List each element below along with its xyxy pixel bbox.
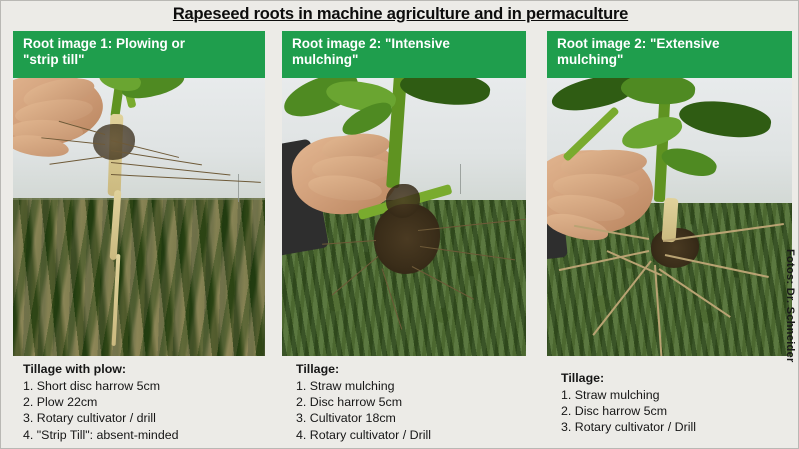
panel-1-header: Root image 1: Plowing or "strip till" — [13, 31, 265, 78]
panel-root-image-2-intensive: Root image 2: "Intensive mulching" — [282, 31, 526, 443]
panel-2-caption-item-3: 3. Cultivator 18cm — [296, 410, 526, 426]
panel-1-caption-title: Tillage with plow: — [23, 361, 265, 377]
horizon-line — [13, 198, 265, 200]
photo-credit: Fotos: Dr. Schneider — [784, 249, 796, 363]
panel-2-caption-title: Tillage: — [296, 361, 526, 377]
panel-3-header: Root image 2: "Extensive mulching" — [547, 31, 792, 78]
panel-root-image-2-extensive: Root image 2: "Extensive mulching" — [547, 31, 792, 436]
panel-3-photo — [547, 78, 792, 356]
panel-2-caption-item-4: 4. Rotary cultivator / Drill — [296, 427, 526, 443]
panel-3-caption-item-1: 1. Straw mulching — [561, 387, 792, 403]
panel-3-header-line2: mulching" — [557, 52, 785, 68]
panel-2-caption-item-2: 2. Disc harrow 5cm — [296, 394, 526, 410]
field — [13, 198, 265, 356]
panel-1-caption: Tillage with plow: 1. Short disc harrow … — [13, 356, 265, 443]
utility-pole — [238, 174, 239, 202]
panel-3-caption-item-2: 2. Disc harrow 5cm — [561, 403, 792, 419]
page-title: Rapeseed roots in machine agriculture an… — [173, 5, 628, 24]
panel-1-photo — [13, 78, 265, 356]
panel-3-caption-item-3: 3. Rotary cultivator / Drill — [561, 419, 792, 435]
panel-1-header-line2: "strip till" — [23, 52, 258, 68]
panel-2-caption: Tillage: 1. Straw mulching 2. Disc harro… — [282, 356, 526, 443]
panel-3-header-line1: Root image 2: "Extensive — [557, 36, 785, 52]
panel-2-photo — [282, 78, 526, 356]
panel-3-caption: Tillage: 1. Straw mulching 2. Disc harro… — [547, 356, 792, 436]
panel-1-header-line1: Root image 1: Plowing or — [23, 36, 258, 52]
panel-3-caption-title: Tillage: — [561, 370, 792, 386]
panel-2-caption-item-1: 1. Straw mulching — [296, 378, 526, 394]
panel-2-header-line1: Root image 2: "Intensive — [292, 36, 519, 52]
panel-2-header: Root image 2: "Intensive mulching" — [282, 31, 526, 78]
panel-root-image-1: Root image 1: Plowing or "strip till" — [13, 31, 265, 443]
utility-pole — [460, 164, 461, 194]
panel-1-caption-item-3: 3. Rotary cultivator / drill — [23, 410, 265, 426]
panel-2-header-line2: mulching" — [292, 52, 519, 68]
panel-1-caption-item-1: 1. Short disc harrow 5cm — [23, 378, 265, 394]
panel-1-caption-item-2: 2. Plow 22cm — [23, 394, 265, 410]
page-title-bar: Rapeseed roots in machine agriculture an… — [1, 1, 799, 28]
panel-1-caption-item-4: 4. "Strip Till": absent-minded — [23, 427, 265, 443]
